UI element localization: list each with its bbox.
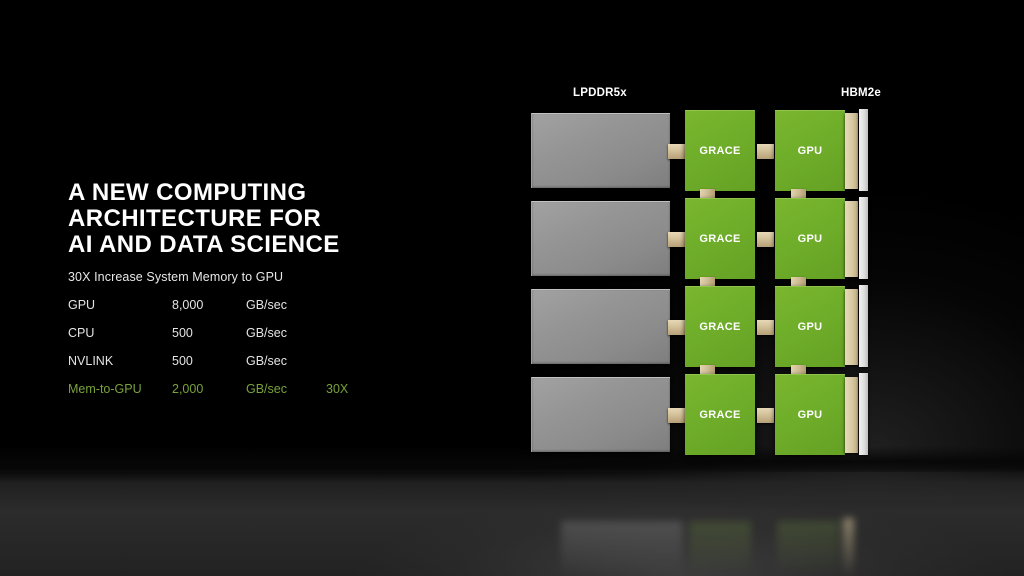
interconnect-memory-to-grace: [668, 320, 685, 335]
slide-canvas: A NEW COMPUTING ARCHITECTURE FOR AI AND …: [0, 0, 1024, 576]
interconnect-grace-to-gpu: [757, 232, 774, 247]
hbm2e-substrate: [845, 289, 858, 365]
hbm2e-substrate: [845, 377, 858, 453]
interconnect-memory-to-grace: [668, 144, 685, 159]
grace-cpu-die: GRACE: [685, 374, 755, 455]
gpu-die: GPU: [775, 110, 845, 191]
grace-cpu-die: GRACE: [685, 110, 755, 191]
gpu-die: GPU: [775, 198, 845, 279]
diagram-label-lpddr5x: LPDDR5x: [573, 87, 627, 99]
interconnect-memory-to-grace: [668, 232, 685, 247]
interconnect-memory-to-grace: [668, 408, 685, 423]
interconnect-grace-to-gpu: [757, 408, 774, 423]
interconnect-grace-to-gpu: [757, 320, 774, 335]
hbm2e-substrate: [845, 201, 858, 277]
hbm2e-stack: [859, 285, 868, 367]
lpddr5x-memory-block: [531, 113, 670, 188]
architecture-diagram: LPDDR5x HBM2e GRACE GPU GRACE GPU: [0, 0, 1024, 576]
hbm2e-stack: [859, 109, 868, 191]
gpu-die: GPU: [775, 286, 845, 367]
lpddr5x-memory-block: [531, 377, 670, 452]
hbm2e-stack: [859, 373, 868, 455]
lpddr5x-memory-block: [531, 201, 670, 276]
diagram-label-hbm2e: HBM2e: [841, 87, 881, 99]
grace-cpu-die: GRACE: [685, 198, 755, 279]
hbm2e-substrate: [845, 113, 858, 189]
interconnect-grace-to-gpu: [757, 144, 774, 159]
hbm2e-stack: [859, 197, 868, 279]
lpddr5x-memory-block: [531, 289, 670, 364]
grace-cpu-die: GRACE: [685, 286, 755, 367]
gpu-die: GPU: [775, 374, 845, 455]
